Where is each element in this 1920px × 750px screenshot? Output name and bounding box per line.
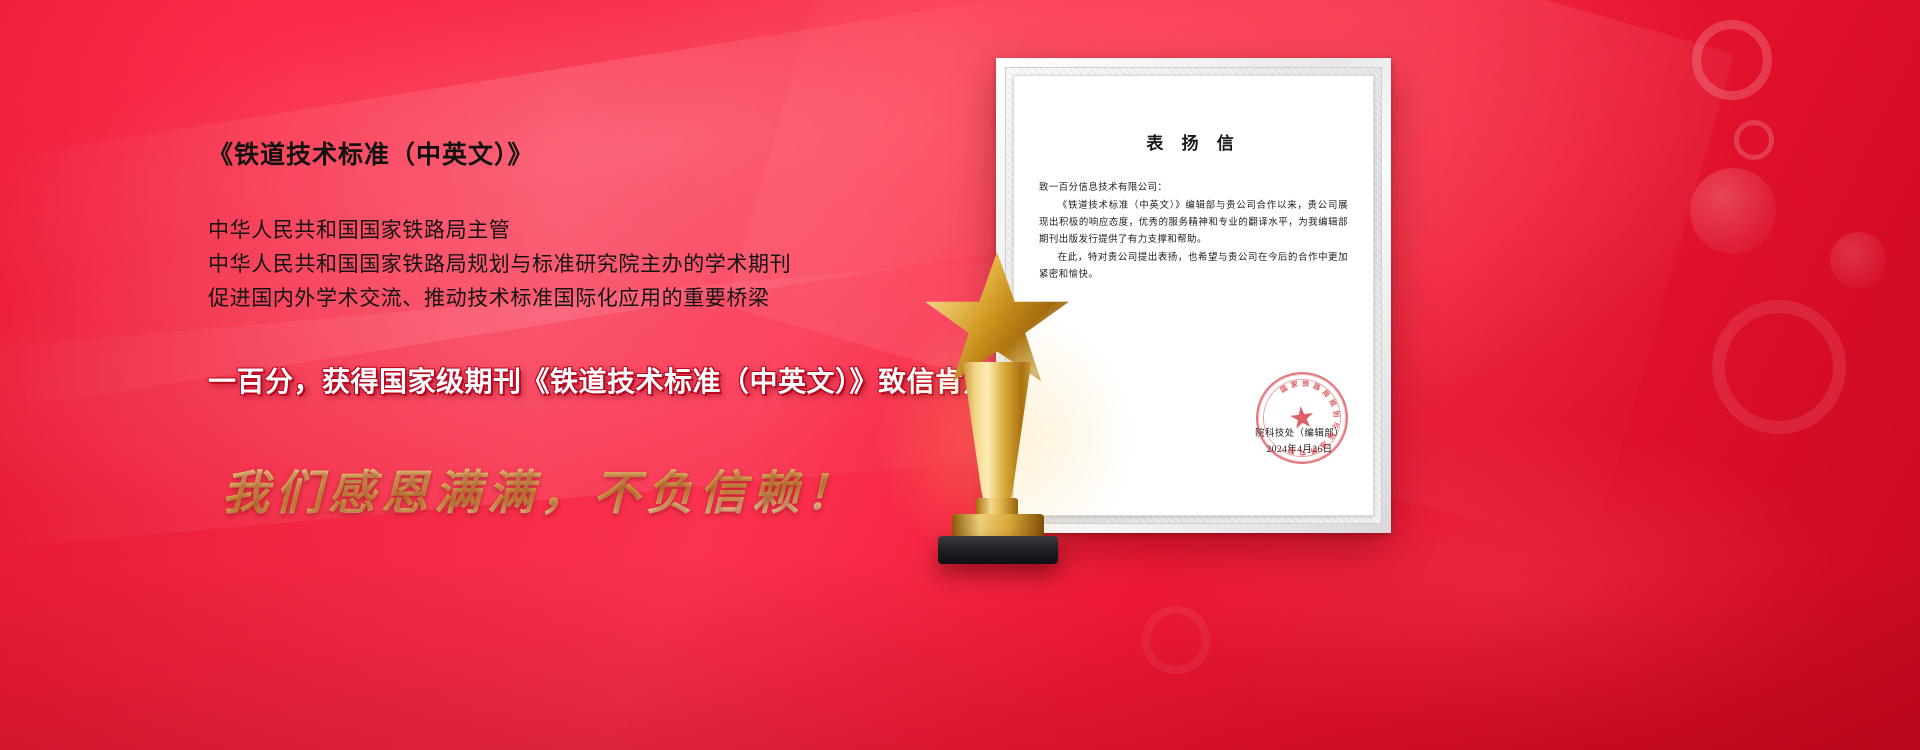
banner-stage: 《铁道技术标准（中英文）》 中华人民共和国国家铁路局主管 中华人民共和国国家铁路… [0,0,1920,750]
certificate-paragraph-1: 《铁道技术标准（中英文）》编辑部与贵公司合作以来，贵公司展现出积极的响应态度，优… [1039,198,1348,249]
banner-text-column: 《铁道技术标准（中英文）》 中华人民共和国国家铁路局主管 中华人民共和国国家铁路… [208,140,988,523]
bokeh-circle-3 [1690,168,1776,254]
gold-star-trophy-icon [900,252,1100,562]
description-line-3: 促进国内外学术交流、推动技术标准国际化应用的重要桥梁 [208,282,988,316]
description-line-1: 中华人民共和国国家铁路局主管 [208,214,988,248]
bokeh-circle-4 [1712,300,1846,434]
bokeh-circle-6 [1142,606,1210,674]
award-headline: 一百分，获得国家级期刊《铁道技术标准（中英文）》致信肯定! [208,360,988,400]
bokeh-circle-5 [1830,232,1886,288]
bokeh-circle-1 [1692,20,1772,100]
description-line-2: 中华人民共和国国家铁路局规划与标准研究院主办的学术期刊 [208,248,988,282]
certificate-salutation: 致一百分信息技术有限公司： [1039,180,1348,197]
certificate-title: 表 扬 信 [1039,129,1348,154]
seal-text: 国家铁路局规划与标准研究院 [1253,369,1351,467]
gold-slogan: 我们感恩满满，不负信赖！ [222,454,988,523]
bokeh-circle-2 [1734,120,1774,160]
official-seal-icon: 国家铁路局规划与标准研究院 [1251,367,1354,470]
bottom-vignette [0,560,1920,750]
trophy-column [958,362,1036,512]
journal-title: 《铁道技术标准（中英文）》 [208,140,988,170]
trophy-base-black [938,536,1058,564]
